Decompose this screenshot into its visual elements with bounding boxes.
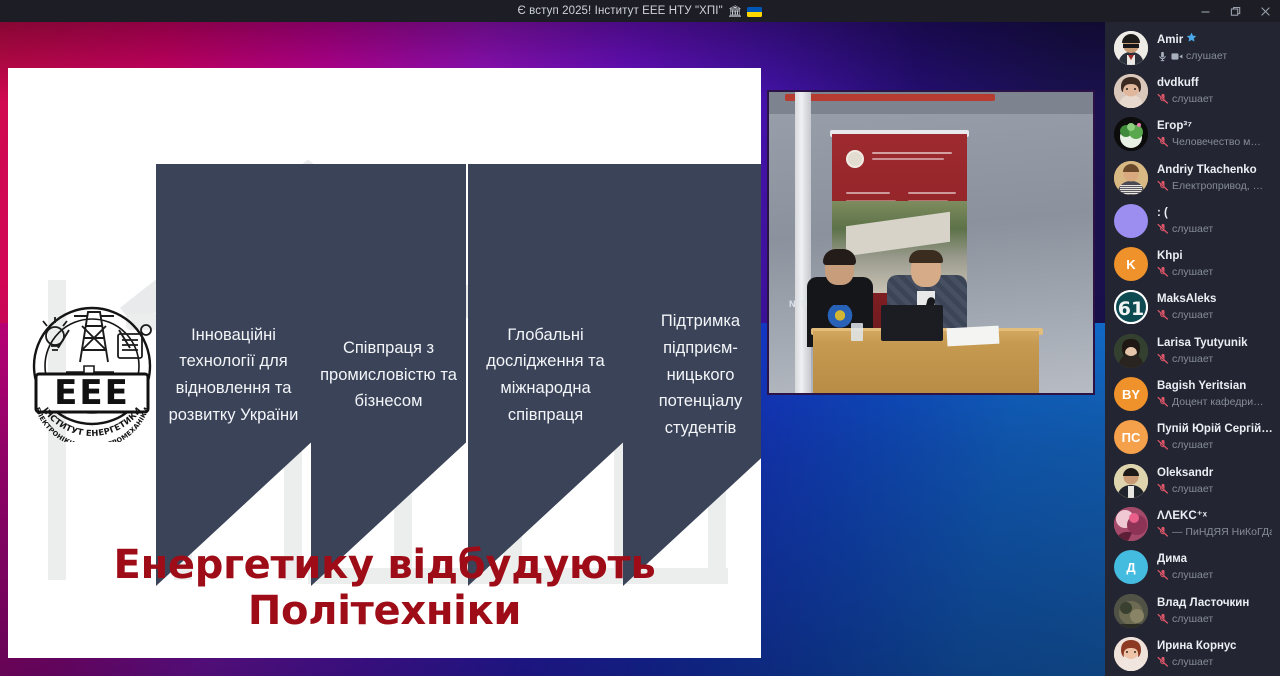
participant-row[interactable]: Егор³⁷Человечество м… bbox=[1105, 113, 1280, 156]
chevron-label-2: Співпраця з промисловістю та бізнесом bbox=[311, 335, 466, 415]
participant-status-text: слушает bbox=[1172, 222, 1213, 236]
participant-status-text: Человечество м… bbox=[1172, 135, 1261, 149]
avatar[interactable]: BY bbox=[1114, 377, 1148, 411]
participant-status-text: слушает bbox=[1172, 655, 1213, 669]
participant-name-text: Ирина Корнус bbox=[1157, 639, 1236, 654]
participants-sidebar[interactable]: AmirслушаетdvdkuffслушаетЕгор³⁷Человечес… bbox=[1105, 22, 1280, 676]
participant-status-text: Доцент кафедри… bbox=[1172, 395, 1264, 409]
avatar[interactable] bbox=[1114, 464, 1148, 498]
participant-row[interactable]: dvdkuffслушает bbox=[1105, 69, 1280, 112]
mic-muted-icon bbox=[1157, 309, 1169, 321]
participant-status-text: слушает bbox=[1172, 612, 1213, 626]
participant-status-text: — ПиНДЯЯ НиКоГДа… bbox=[1172, 525, 1272, 539]
video-papers bbox=[947, 326, 1000, 347]
chevron-label-1: Інноваційні технології для відновлення т… bbox=[156, 322, 311, 429]
mic-on-icon bbox=[1157, 51, 1168, 62]
video-stage[interactable]: Інноваційні технології для відновлення т… bbox=[0, 22, 1105, 676]
window-title: Є вступ 2025! Інститут ЕЕЕ НТУ "ХПІ" 🏛 bbox=[518, 4, 763, 18]
mic-muted-icon bbox=[1157, 526, 1169, 538]
participant-status: слушает bbox=[1157, 568, 1272, 582]
participant-status: Електропривод, … bbox=[1157, 179, 1272, 193]
participant-name: Ирина Корнус bbox=[1157, 639, 1272, 654]
participant-status-text: Електропривод, … bbox=[1172, 179, 1263, 193]
participant-name: MaksAleks bbox=[1157, 292, 1272, 307]
participant-row[interactable]: Oleksandrслушает bbox=[1105, 459, 1280, 502]
participant-name-text: ΛΛΕΚС⁺ˣ bbox=[1157, 509, 1207, 524]
participant-row[interactable]: Amirслушает bbox=[1105, 26, 1280, 69]
chevron-item-3: Глобальні дослідження та міжнародна спів… bbox=[468, 164, 623, 586]
video-pillar bbox=[795, 92, 811, 393]
video-water-glass bbox=[851, 323, 863, 341]
participant-info: Пупій Юрій Сергій…слушает bbox=[1157, 422, 1272, 452]
chevron-label-4: Підтримка підприєм-ницького потенціалу с… bbox=[623, 308, 761, 442]
participant-row[interactable]: 61MaksAleksслушает bbox=[1105, 286, 1280, 329]
participant-info: Andriy TkachenkoЕлектропривод, … bbox=[1157, 163, 1272, 193]
mic-muted-icon bbox=[1157, 266, 1169, 278]
participant-row[interactable]: Ирина Корнусслушает bbox=[1105, 632, 1280, 675]
chevron-item-4: Підтримка підприєм-ницького потенціалу с… bbox=[623, 164, 761, 586]
participant-name: Bagish Yeritsian bbox=[1157, 379, 1272, 394]
participant-status: слушает bbox=[1157, 49, 1272, 63]
participant-status-text: слушает bbox=[1172, 352, 1213, 366]
participant-status: слушает bbox=[1157, 612, 1272, 626]
mic-muted-icon bbox=[1157, 93, 1169, 105]
mic-muted-icon bbox=[1157, 353, 1169, 365]
participant-name-text: Дима bbox=[1157, 552, 1187, 567]
participant-row[interactable]: BYBagish YeritsianДоцент кафедри… bbox=[1105, 372, 1280, 415]
video-person-right-hair bbox=[909, 250, 943, 263]
participant-info: : (слушает bbox=[1157, 206, 1272, 236]
mic-muted-icon bbox=[1157, 656, 1169, 668]
participant-status-text: слушает bbox=[1172, 308, 1213, 322]
participant-name: ΛΛΕΚС⁺ˣ bbox=[1157, 509, 1272, 524]
participant-status-text: слушает bbox=[1172, 482, 1213, 496]
participant-info: MaksAleksслушает bbox=[1157, 292, 1272, 322]
participant-status-text: слушает bbox=[1172, 265, 1213, 279]
avatar-photo bbox=[1114, 161, 1148, 195]
avatar[interactable]: K bbox=[1114, 247, 1148, 281]
participant-status: слушает bbox=[1157, 222, 1272, 236]
participant-row[interactable]: ДДимаслушает bbox=[1105, 546, 1280, 589]
participant-row[interactable]: KKhpiслушает bbox=[1105, 242, 1280, 285]
participant-status-text: слушает bbox=[1172, 568, 1213, 582]
close-button[interactable] bbox=[1250, 0, 1280, 22]
shared-slide[interactable]: Інноваційні технології для відновлення т… bbox=[8, 68, 761, 658]
avatar-photo: 61 bbox=[1114, 290, 1148, 324]
participant-name: Пупій Юрій Сергій… bbox=[1157, 422, 1272, 437]
avatar[interactable] bbox=[1114, 594, 1148, 628]
participant-row[interactable]: : (слушает bbox=[1105, 199, 1280, 242]
participant-row[interactable]: Влад Ласточкинслушает bbox=[1105, 589, 1280, 632]
participant-name-text: Пупій Юрій Сергій… bbox=[1157, 422, 1272, 437]
svg-text:61: 61 bbox=[1118, 298, 1144, 320]
participant-info: Larisa Tyutyunikслушает bbox=[1157, 336, 1272, 366]
chevron-item-2: Співпраця з промисловістю та бізнесом bbox=[311, 164, 466, 586]
participant-status: — ПиНДЯЯ НиКоГДа… bbox=[1157, 525, 1272, 539]
participant-row[interactable]: Andriy TkachenkoЕлектропривод, … bbox=[1105, 156, 1280, 199]
avatar[interactable] bbox=[1114, 161, 1148, 195]
avatar[interactable] bbox=[1114, 117, 1148, 151]
mic-muted-icon bbox=[1157, 223, 1169, 235]
participant-name: Andriy Tkachenko bbox=[1157, 163, 1272, 178]
participant-status: слушает bbox=[1157, 265, 1272, 279]
slide-headline: Енергетику відбудують Політехніки bbox=[8, 542, 761, 634]
participant-info: Егор³⁷Человечество м… bbox=[1157, 119, 1272, 149]
participant-name-text: Amir bbox=[1157, 33, 1183, 48]
avatar-photo bbox=[1114, 74, 1148, 108]
avatar-photo bbox=[1114, 31, 1148, 65]
avatar-photo bbox=[1114, 464, 1148, 498]
participant-name-text: Khpi bbox=[1157, 249, 1183, 264]
camera-icon bbox=[1171, 52, 1183, 61]
participant-status: слушает bbox=[1157, 438, 1272, 452]
participant-name: Larisa Tyutyunik bbox=[1157, 336, 1272, 351]
participant-name: dvdkuff bbox=[1157, 76, 1272, 91]
participant-name: Егор³⁷ bbox=[1157, 119, 1272, 134]
video-ceiling bbox=[769, 92, 1093, 114]
video-banner-seal-icon bbox=[846, 150, 864, 168]
participant-info: Khpiслушает bbox=[1157, 249, 1272, 279]
participant-info: Влад Ласточкинслушает bbox=[1157, 596, 1272, 626]
app-window: Є вступ 2025! Інститут ЕЕЕ НТУ "ХПІ" 🏛 bbox=[0, 0, 1280, 676]
mic-muted-icon bbox=[1157, 180, 1169, 192]
mic-muted-icon bbox=[1157, 483, 1169, 495]
participant-info: Bagish YeritsianДоцент кафедри… bbox=[1157, 379, 1272, 409]
avatar[interactable] bbox=[1114, 74, 1148, 108]
avatar[interactable]: 61 bbox=[1114, 290, 1148, 324]
avatar-photo bbox=[1114, 594, 1148, 628]
participant-status-text: слушает bbox=[1186, 49, 1227, 63]
participant-name-text: Bagish Yeritsian bbox=[1157, 379, 1246, 394]
participant-status: Человечество м… bbox=[1157, 135, 1272, 149]
participant-name: Oleksandr bbox=[1157, 466, 1272, 481]
participant-name: Влад Ласточкин bbox=[1157, 596, 1272, 611]
participant-row[interactable]: ΛΛΕΚС⁺ˣ— ПиНДЯЯ НиКоГДа… bbox=[1105, 502, 1280, 545]
participant-status: слушает bbox=[1157, 655, 1272, 669]
avatar[interactable] bbox=[1114, 204, 1148, 238]
avatar[interactable] bbox=[1114, 31, 1148, 65]
participant-name: Дима bbox=[1157, 552, 1272, 567]
restore-button[interactable] bbox=[1220, 0, 1250, 22]
participant-status: слушает bbox=[1157, 92, 1272, 106]
participant-status-text: слушает bbox=[1172, 92, 1213, 106]
chevron-label-3: Глобальні дослідження та міжнародна спів… bbox=[468, 322, 623, 429]
participant-status-text: слушает bbox=[1172, 438, 1213, 452]
eee-institute-logo-icon: EEE ІНСТИТУТ ЕНЕРГЕТИКИ ЕЛЕКТРОНІКИ ТА Е… bbox=[22, 290, 162, 442]
participant-row[interactable]: Larisa Tyutyunikслушает bbox=[1105, 329, 1280, 372]
participant-name-text: dvdkuff bbox=[1157, 76, 1199, 91]
participant-name-text: Andriy Tkachenko bbox=[1157, 163, 1257, 178]
participant-info: Димаслушает bbox=[1157, 552, 1272, 582]
participant-info: Amirслушает bbox=[1157, 32, 1272, 63]
bank-building-icon: 🏛 bbox=[728, 4, 743, 18]
participant-name: Amir bbox=[1157, 32, 1272, 48]
participant-info: Oleksandrслушает bbox=[1157, 466, 1272, 496]
mic-muted-icon bbox=[1157, 613, 1169, 625]
avatar-photo bbox=[1114, 334, 1148, 368]
participant-row[interactable]: ПСПупій Юрій Сергій…слушает bbox=[1105, 416, 1280, 459]
video-person-left-hair bbox=[823, 249, 856, 265]
avatar-photo bbox=[1114, 117, 1148, 151]
participant-status: слушает bbox=[1157, 308, 1272, 322]
participant-video-tile[interactable]: NTU KhPI bbox=[767, 90, 1095, 395]
participant-name-text: Егор³⁷ bbox=[1157, 119, 1192, 134]
participant-info: dvdkuffслушает bbox=[1157, 76, 1272, 106]
chevron-item-1: Інноваційні технології для відновлення т… bbox=[156, 164, 311, 586]
avatar[interactable] bbox=[1114, 334, 1148, 368]
participant-name-text: Larisa Tyutyunik bbox=[1157, 336, 1248, 351]
participant-name-text: MaksAleks bbox=[1157, 292, 1216, 307]
participant-name: Khpi bbox=[1157, 249, 1272, 264]
participant-info: Ирина Корнусслушает bbox=[1157, 639, 1272, 669]
participant-info: ΛΛΕΚС⁺ˣ— ПиНДЯЯ НиКоГДа… bbox=[1157, 509, 1272, 539]
title-bar: Є вступ 2025! Інститут ЕЕЕ НТУ "ХПІ" 🏛 bbox=[0, 0, 1280, 22]
avatar-photo bbox=[1114, 637, 1148, 671]
ukraine-flag-icon bbox=[747, 7, 762, 17]
participant-status: слушает bbox=[1157, 482, 1272, 496]
avatar[interactable] bbox=[1114, 637, 1148, 671]
mic-muted-icon bbox=[1157, 569, 1169, 581]
participant-name-text: Влад Ласточкин bbox=[1157, 596, 1249, 611]
mic-muted-icon bbox=[1157, 136, 1169, 148]
participant-status: слушает bbox=[1157, 352, 1272, 366]
svg-text:EEE: EEE bbox=[54, 373, 130, 413]
avatar[interactable] bbox=[1114, 507, 1148, 541]
minimize-button[interactable] bbox=[1190, 0, 1220, 22]
video-ceiling-pipe bbox=[785, 94, 995, 101]
avatar-photo bbox=[1114, 507, 1148, 541]
window-title-text: Є вступ 2025! Інститут ЕЕЕ НТУ "ХПІ" bbox=[518, 5, 723, 17]
video-laptop bbox=[881, 305, 943, 341]
participant-name-text: Oleksandr bbox=[1157, 466, 1213, 481]
avatar[interactable]: Д bbox=[1114, 550, 1148, 584]
window-controls bbox=[1190, 0, 1280, 22]
participant-name-text: : ( bbox=[1157, 206, 1168, 221]
participant-status: Доцент кафедри… bbox=[1157, 395, 1272, 409]
avatar[interactable]: ПС bbox=[1114, 420, 1148, 454]
mic-muted-icon bbox=[1157, 396, 1169, 408]
premium-star-icon bbox=[1186, 32, 1197, 48]
participant-name: : ( bbox=[1157, 206, 1272, 221]
mic-muted-icon bbox=[1157, 439, 1169, 451]
